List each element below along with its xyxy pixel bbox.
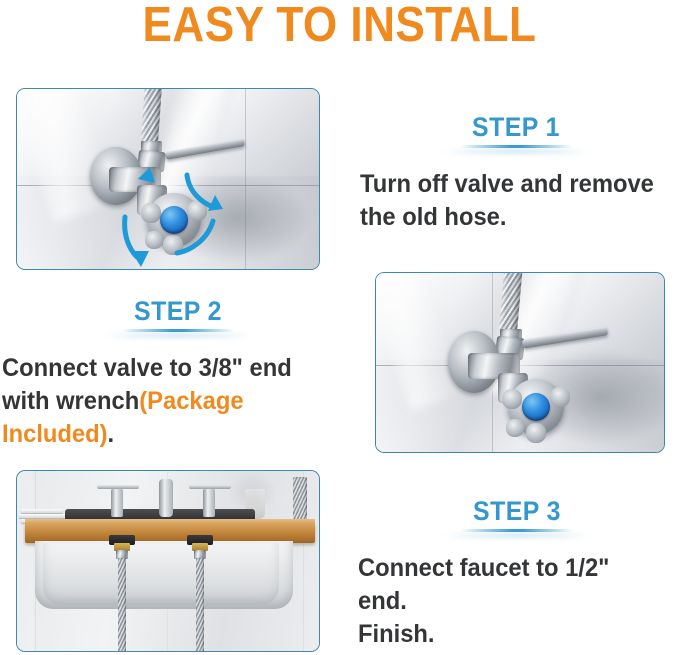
plate — [19, 514, 65, 518]
step-2-text-block: STEP 2 Connect valve to 3/8" end with wr… — [2, 296, 354, 451]
sink-basin-inner — [43, 543, 279, 605]
step-2-heading: STEP 2 — [16, 296, 340, 326]
step-1-heading-wrap: STEP 1 — [360, 112, 672, 154]
step-1-image — [16, 88, 320, 270]
step-3-heading-underline-glow — [442, 533, 592, 538]
step-1-heading-underline-glow — [441, 149, 591, 154]
wall-panel — [17, 471, 33, 651]
decor-hose — [293, 477, 307, 521]
step-2-heading-wrap: STEP 2 — [2, 296, 354, 338]
faucet-cross-right — [189, 485, 231, 489]
faucet-handle-right — [203, 489, 215, 517]
step-2-heading-underline-glow — [103, 333, 253, 338]
page-title: EASY TO INSTALL — [34, 0, 645, 52]
blue-handle-cap — [522, 393, 550, 421]
handle-lobe — [502, 389, 522, 409]
step-3-image — [16, 470, 320, 652]
faucet-cross-left — [97, 485, 139, 489]
plant-blur — [231, 475, 275, 509]
step-2-body: Connect valve to 3/8" end with wrench(Pa… — [2, 352, 336, 451]
step-1-body-line-1: Turn off valve and remove — [360, 168, 656, 201]
step-3-heading: STEP 3 — [371, 496, 664, 526]
step-3-text-block: STEP 3 Connect faucet to 1/2" end. Finis… — [358, 496, 676, 651]
step-1-heading-underline — [460, 145, 572, 148]
step-3-body-line-1: Connect faucet to 1/2" end. — [358, 552, 660, 618]
wood-countertop — [25, 523, 315, 543]
step-2-image — [375, 272, 665, 453]
step-2-body-line-2-post: . — [108, 420, 115, 448]
step-2-heading-underline — [122, 329, 234, 332]
plate — [21, 509, 63, 513]
step-2-body-line-2-pre: with wrench — [2, 387, 139, 415]
step-1-text-block: STEP 1 Turn off valve and remove the old… — [360, 112, 672, 234]
step-1-body: Turn off valve and remove the old hose. — [360, 168, 656, 234]
supply-hose-left — [118, 558, 126, 651]
handle-lobe — [526, 423, 546, 443]
step-2-body-line-2: with wrench(Package Included). — [2, 385, 336, 451]
step-1-heading: STEP 1 — [372, 112, 659, 142]
supply-hose-right — [196, 558, 204, 651]
faucet-handle-left — [111, 489, 123, 517]
step-1-body-line-2: the old hose. — [360, 201, 656, 234]
faucet-spout — [159, 479, 173, 517]
step-2-body-line-1: Connect valve to 3/8" end — [2, 352, 336, 385]
step-3-heading-wrap: STEP 3 — [358, 496, 676, 538]
step-3-body-line-2: Finish. — [358, 618, 660, 651]
handle-lobe — [550, 387, 570, 407]
handle-lobe — [506, 419, 524, 437]
step-3-heading-underline — [461, 529, 573, 532]
rotation-arrows-icon — [17, 89, 319, 269]
step-3-body: Connect faucet to 1/2" end. Finish. — [358, 552, 660, 651]
